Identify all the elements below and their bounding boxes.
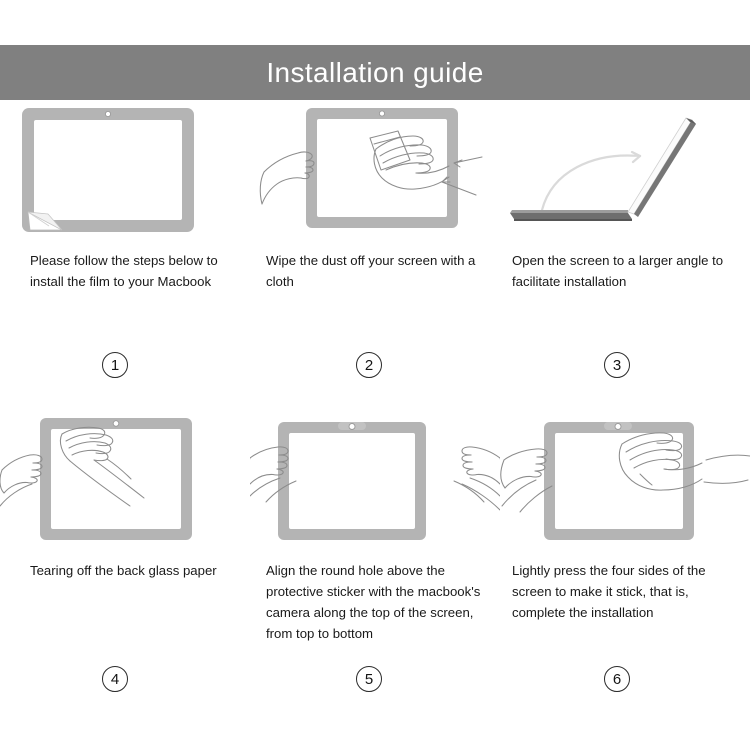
step-4-illustration	[0, 410, 250, 550]
step-card-3: Open the screen to a larger angle to fac…	[500, 100, 750, 410]
step-5-illustration	[250, 410, 500, 550]
step-3-illustration	[500, 100, 750, 240]
step-number-badge: 6	[604, 666, 630, 692]
two-hands-aligning-film-on-screen-icon	[250, 410, 500, 550]
step-2-caption: Wipe the dust off your screen with a clo…	[250, 250, 492, 292]
step-3-caption: Open the screen to a larger angle to fac…	[500, 250, 750, 292]
step-6-caption: Lightly press the four sides of the scre…	[500, 560, 750, 623]
step-1-illustration	[0, 100, 250, 240]
step-1-caption: Please follow the steps below to install…	[0, 250, 250, 292]
screen-with-peeling-film-corner-icon	[0, 100, 250, 240]
step-1-number-wrap: 1	[0, 352, 240, 378]
laptop-side-profile-opening-angle-icon	[500, 100, 750, 240]
header-band: Installation guide	[0, 45, 750, 100]
step-6-illustration	[500, 410, 750, 550]
step-number-badge: 4	[102, 666, 128, 692]
step-card-6: Lightly press the four sides of the scre…	[500, 410, 750, 710]
step-number-badge: 3	[604, 352, 630, 378]
step-card-2: Wipe the dust off your screen with a clo…	[250, 100, 500, 410]
step-4-caption: Tearing off the back glass paper	[0, 560, 225, 581]
step-card-5: Align the round hole above the protectiv…	[250, 410, 500, 710]
page-title: Installation guide	[266, 57, 483, 89]
step-3-number-wrap: 3	[492, 352, 742, 378]
hand-wiping-screen-with-cloth-icon	[250, 100, 500, 240]
step-5-number-wrap: 5	[244, 666, 494, 692]
step-number-badge: 2	[356, 352, 382, 378]
step-2-number-wrap: 2	[244, 352, 494, 378]
step-card-4: Tearing off the back glass paper 4	[0, 410, 250, 710]
step-card-1: Please follow the steps below to install…	[0, 100, 250, 410]
two-hands-peeling-back-paper-icon	[0, 410, 250, 550]
installation-steps-grid: Please follow the steps below to install…	[0, 100, 750, 750]
hand-pressing-film-onto-screen-icon	[500, 410, 750, 550]
step-4-number-wrap: 4	[0, 666, 240, 692]
step-number-badge: 1	[102, 352, 128, 378]
step-6-number-wrap: 6	[492, 666, 742, 692]
step-5-caption: Align the round hole above the protectiv…	[250, 560, 492, 644]
step-2-illustration	[250, 100, 500, 240]
step-number-badge: 5	[356, 666, 382, 692]
